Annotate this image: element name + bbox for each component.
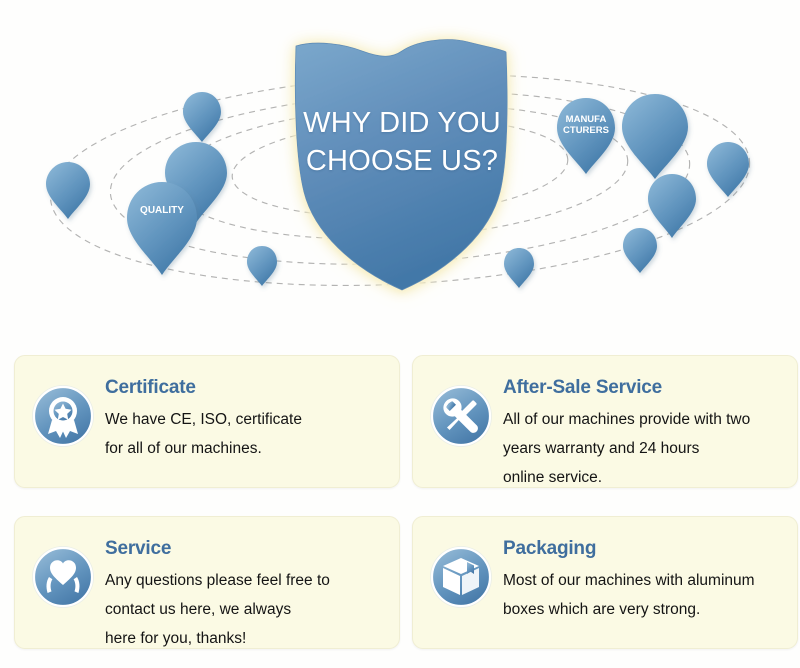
card-text-line: Most of our machines with aluminum <box>503 566 785 595</box>
card-text-line: We have CE, ISO, certificate <box>105 405 387 434</box>
pin-bottom-right-small <box>623 228 657 273</box>
pin-manufacturers-label-line1: MANUFA <box>566 114 607 125</box>
card-text: Most of our machines with aluminum boxes… <box>503 566 785 624</box>
card-text: All of our machines provide with two yea… <box>503 405 785 488</box>
package-box-icon <box>427 543 495 611</box>
card-title: After-Sale Service <box>503 376 785 400</box>
hero-graphic: MANUFA CTURERS QUALITY <box>0 0 800 330</box>
card-text-line: boxes which are very strong. <box>503 595 785 624</box>
feature-cards-grid: Certificate We have CE, ISO, certificate… <box>0 330 800 668</box>
pin-manufacturers: MANUFA CTURERS <box>557 98 615 174</box>
card-title: Packaging <box>503 537 785 561</box>
card-text-line: years warranty and 24 hours <box>503 434 785 463</box>
card-text-line: Any questions please feel free to <box>105 566 387 595</box>
pin-left-top <box>183 92 221 142</box>
award-badge-icon <box>29 382 97 450</box>
pin-manufacturers-label-line2: CTURERS <box>563 125 609 136</box>
card-text-line: for all of our machines. <box>105 434 387 463</box>
pin-right-large <box>622 94 688 179</box>
card-title: Service <box>105 537 387 561</box>
pin-left-outer <box>46 162 90 219</box>
card-text-line: here for you, thanks! <box>105 624 387 649</box>
card-service[interactable]: Service Any questions please feel free t… <box>14 516 400 649</box>
card-certificate[interactable]: Certificate We have CE, ISO, certificate… <box>14 355 400 488</box>
pin-bottom-left-small <box>247 246 277 286</box>
pin-quality-label: QUALITY <box>140 205 184 216</box>
pin-bottom-center-small <box>504 248 534 288</box>
card-body: Certificate We have CE, ISO, certificate… <box>105 366 387 463</box>
pin-right-mid <box>648 174 696 238</box>
card-text-line: All of our machines provide with two <box>503 405 785 434</box>
card-title: Certificate <box>105 376 387 400</box>
card-packaging[interactable]: Packaging Most of our machines with alum… <box>412 516 798 649</box>
card-body: Packaging Most of our machines with alum… <box>503 527 785 624</box>
pin-right-outer <box>707 142 749 197</box>
shield-badge <box>295 40 507 290</box>
card-text: We have CE, ISO, certificate for all of … <box>105 405 387 463</box>
why-choose-us-page: MANUFA CTURERS QUALITY WHY DID YOU CHOOS… <box>0 0 800 668</box>
hero-section: MANUFA CTURERS QUALITY WHY DID YOU CHOOS… <box>0 0 800 330</box>
card-text-line: contact us here, we always <box>105 595 387 624</box>
heart-in-hands-icon <box>29 543 97 611</box>
card-body: Service Any questions please feel free t… <box>105 527 387 649</box>
card-after-sale-service[interactable]: After-Sale Service All of our machines p… <box>412 355 798 488</box>
card-body: After-Sale Service All of our machines p… <box>503 366 785 488</box>
card-text-line: online service. <box>503 463 785 488</box>
tools-wrench-screwdriver-icon <box>427 382 495 450</box>
card-text: Any questions please feel free to contac… <box>105 566 387 649</box>
